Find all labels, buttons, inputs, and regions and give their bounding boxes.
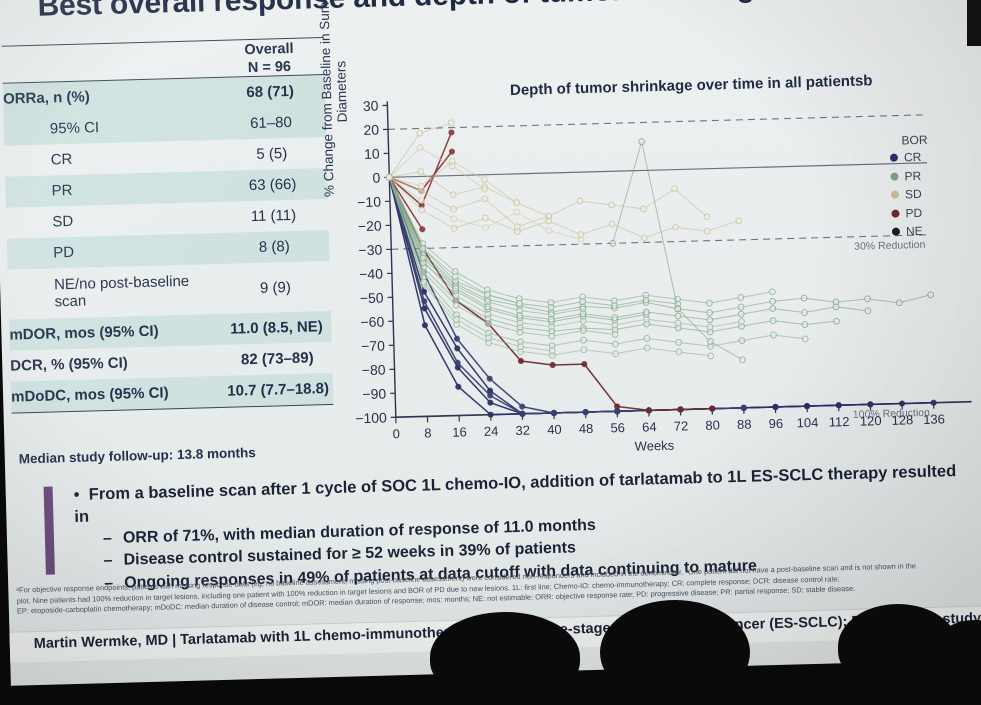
legend-dot-icon xyxy=(890,154,898,162)
legend-label: CR xyxy=(904,150,922,164)
series-marker xyxy=(580,299,586,305)
row-value-cr: 5 (5) xyxy=(217,137,328,171)
series-marker xyxy=(707,317,713,323)
page-title: Best overall response and depth of tumor… xyxy=(37,0,938,22)
series-marker xyxy=(549,333,555,339)
series-marker xyxy=(419,207,425,213)
x-tick-label: 64 xyxy=(642,419,657,434)
series-marker xyxy=(452,273,458,279)
series-line-cr xyxy=(389,163,933,417)
y-tick-label: −60 xyxy=(360,314,384,331)
bullet-dot: • xyxy=(74,486,89,504)
x-tick-label: 0 xyxy=(392,426,400,441)
series-marker xyxy=(771,332,777,338)
series-marker xyxy=(739,338,745,344)
series-marker xyxy=(678,407,683,412)
series-marker xyxy=(641,235,647,241)
y-tick-label: 0 xyxy=(372,170,380,186)
series-marker xyxy=(896,300,902,306)
legend-item-sd: SD xyxy=(891,187,929,202)
row-value-mdor: 11.0 (8.5, NE) xyxy=(221,311,332,345)
series-marker xyxy=(834,318,840,324)
series-marker xyxy=(449,130,454,135)
series-marker xyxy=(453,302,459,308)
row-label-ne: NE/no post-baseline scan xyxy=(8,264,222,320)
series-marker xyxy=(517,329,523,335)
series-marker xyxy=(454,317,460,323)
legend-item-pr: PR xyxy=(890,168,928,183)
series-marker xyxy=(456,384,461,389)
series-line-sd xyxy=(389,168,739,245)
x-tick-label: 72 xyxy=(674,418,689,433)
series-marker xyxy=(488,412,493,417)
series-marker xyxy=(676,349,682,355)
legend-item-ne: NE xyxy=(892,224,930,239)
series-marker xyxy=(420,245,426,251)
y-tick-label: 10 xyxy=(364,146,380,162)
footnote-marker-a: a xyxy=(36,90,45,107)
series-marker xyxy=(451,206,457,212)
y-tick-label: −30 xyxy=(358,242,382,259)
series-marker xyxy=(455,360,460,365)
series-marker xyxy=(485,304,491,310)
series-marker xyxy=(484,292,490,298)
series-marker xyxy=(485,321,491,327)
series-marker xyxy=(609,221,615,227)
series-marker xyxy=(802,336,808,342)
y-tick-label: −50 xyxy=(360,290,384,307)
y-tick-label: −70 xyxy=(361,338,385,355)
series-marker xyxy=(865,296,871,302)
x-tick-label: 96 xyxy=(768,416,783,431)
series-marker xyxy=(483,225,489,231)
series-marker xyxy=(422,299,427,304)
series-marker xyxy=(548,316,554,322)
series-marker xyxy=(741,405,746,410)
series-line-cr xyxy=(389,168,743,417)
legend-dot-icon xyxy=(891,191,899,199)
y-tick-label: −80 xyxy=(362,361,386,378)
series-marker xyxy=(487,393,492,398)
row-value-sd: 11 (11) xyxy=(218,199,329,233)
legend-dot-icon xyxy=(891,209,899,217)
x-tick-label: 48 xyxy=(579,421,594,436)
median-followup-text: Median study follow-up: 13.8 months xyxy=(19,445,256,466)
series-marker xyxy=(514,209,520,215)
series-marker xyxy=(706,300,712,306)
series-marker xyxy=(455,346,460,351)
dash-marker: – xyxy=(103,550,124,573)
legend-label: PR xyxy=(904,168,921,182)
series-marker xyxy=(549,348,555,354)
row-value-dcr: 82 (73–89) xyxy=(222,342,333,376)
series-marker xyxy=(580,311,586,317)
series-marker xyxy=(546,218,552,224)
series-marker xyxy=(640,206,646,212)
series-marker xyxy=(931,400,936,405)
series-marker xyxy=(738,318,744,324)
series-marker xyxy=(899,401,904,406)
series-marker xyxy=(833,304,839,310)
y-tick-label: 30 xyxy=(363,98,379,114)
series-marker xyxy=(417,130,423,136)
legend-dot-icon xyxy=(890,172,898,180)
series-marker xyxy=(518,344,524,350)
series-marker xyxy=(740,357,746,363)
series-marker xyxy=(609,202,615,208)
audience-silhouette xyxy=(430,612,580,702)
series-marker xyxy=(453,285,459,291)
series-marker xyxy=(708,353,714,359)
series-marker xyxy=(482,186,488,192)
series-marker xyxy=(550,362,555,367)
x-tick-label: 24 xyxy=(484,423,499,438)
series-marker xyxy=(611,303,617,309)
series-marker xyxy=(704,228,710,234)
slide-surface: Best overall response and depth of tumor… xyxy=(0,0,981,686)
series-marker xyxy=(422,323,427,328)
series-marker xyxy=(644,345,650,351)
frame-edge-right xyxy=(967,0,981,46)
series-marker xyxy=(770,298,776,304)
y-tick-label: 20 xyxy=(363,122,379,138)
series-marker xyxy=(482,196,488,202)
series-marker xyxy=(738,311,744,317)
x-tick-label: 128 xyxy=(891,412,913,428)
series-marker xyxy=(451,216,457,222)
series-marker xyxy=(551,410,556,415)
x-tick-label: 80 xyxy=(705,417,720,432)
series-marker xyxy=(704,214,710,220)
series-marker xyxy=(486,335,492,341)
series-marker xyxy=(804,403,809,408)
row-value-pr: 63 (66) xyxy=(217,168,328,202)
best-overall-response-table: Overall N = 96 ORRa, n (%) 68 (71) 95% C… xyxy=(2,37,334,416)
legend-label: NE xyxy=(906,224,923,238)
reference-line xyxy=(388,115,926,130)
series-marker xyxy=(644,335,650,341)
audience-silhouette xyxy=(600,600,750,705)
series-marker xyxy=(546,228,552,234)
series-marker xyxy=(646,408,651,413)
series-line-cr xyxy=(389,164,870,417)
series-marker xyxy=(582,361,587,366)
series-marker xyxy=(612,331,618,337)
series-marker xyxy=(801,295,807,301)
table-row: NE/no post-baseline scan 9 (9) xyxy=(8,261,331,320)
series-marker xyxy=(673,224,679,230)
x-tick-label: 56 xyxy=(610,420,625,435)
series-marker xyxy=(580,328,586,334)
legend-dot-icon xyxy=(892,228,900,236)
series-marker xyxy=(614,404,619,409)
series-marker xyxy=(419,197,425,203)
series-marker xyxy=(514,228,520,234)
series-marker xyxy=(449,158,455,164)
series-marker xyxy=(578,232,584,238)
y-tick-label: −20 xyxy=(358,218,382,235)
legend-title: BOR xyxy=(889,133,927,148)
series-marker xyxy=(613,351,619,357)
x-tick-label: 8 xyxy=(424,425,432,440)
series-marker xyxy=(420,227,425,232)
series-marker xyxy=(449,149,454,154)
x-tick-label: 40 xyxy=(547,422,562,437)
series-marker xyxy=(577,198,583,204)
series-marker xyxy=(516,300,522,306)
row-value-ne: 9 (9) xyxy=(220,261,331,314)
x-tick-label: 16 xyxy=(452,424,467,439)
series-marker xyxy=(612,341,618,347)
y-tick-label: −10 xyxy=(357,194,381,211)
series-marker xyxy=(548,304,554,310)
series-marker xyxy=(386,174,392,180)
chart-legend: BOR CRPRSDPDNE xyxy=(889,133,930,243)
series-marker xyxy=(518,358,523,363)
series-marker xyxy=(676,339,682,345)
x-tick-label: 32 xyxy=(515,423,530,438)
legend-label: SD xyxy=(905,187,922,201)
series-marker xyxy=(421,279,427,285)
series-marker xyxy=(643,309,649,315)
series-marker xyxy=(451,225,457,231)
legend-item-cr: CR xyxy=(890,150,928,165)
row-value-orr: 68 (71) xyxy=(215,75,326,109)
series-marker xyxy=(868,402,873,407)
series-marker xyxy=(769,289,775,295)
series-marker xyxy=(802,322,808,328)
series-marker xyxy=(581,337,587,343)
x-tick-label: 112 xyxy=(829,414,850,430)
y-tick-label: −90 xyxy=(362,385,386,402)
series-marker xyxy=(482,215,488,221)
tumor-shrinkage-chart: Depth of tumor shrinkage over time in al… xyxy=(325,71,981,469)
series-marker xyxy=(836,403,841,408)
series-marker xyxy=(420,255,426,261)
series-marker xyxy=(418,183,424,189)
series-marker xyxy=(487,376,492,381)
series-marker xyxy=(707,324,713,330)
series-marker xyxy=(672,186,678,192)
series-marker xyxy=(583,409,588,414)
y-tick-label: −100 xyxy=(355,409,387,426)
series-marker xyxy=(770,318,776,324)
series-marker xyxy=(643,297,649,303)
accent-bar xyxy=(44,487,55,575)
legend-items: CRPRSDPDNE xyxy=(890,150,930,239)
series-marker xyxy=(738,294,744,300)
series-marker xyxy=(450,192,456,198)
series-marker xyxy=(418,169,424,175)
series-marker xyxy=(710,406,715,411)
y-tick-label: −40 xyxy=(359,266,383,283)
series-marker xyxy=(773,404,778,409)
series-marker xyxy=(448,120,454,126)
series-marker xyxy=(517,312,523,318)
series-marker xyxy=(488,400,493,405)
series-marker xyxy=(675,320,681,326)
x-tick-label: 104 xyxy=(796,415,818,431)
series-marker xyxy=(802,310,808,316)
series-marker xyxy=(738,304,744,310)
series-marker xyxy=(454,336,459,341)
row-value-pd: 8 (8) xyxy=(219,230,330,264)
series-marker xyxy=(581,347,587,353)
series-marker xyxy=(736,218,742,224)
series-marker xyxy=(514,200,520,206)
x-tick-label: 120 xyxy=(860,413,882,429)
series-marker xyxy=(520,411,525,416)
legend-item-pd: PD xyxy=(891,205,929,220)
x-tick-label: 136 xyxy=(923,411,945,427)
series-marker xyxy=(865,308,871,314)
series-marker xyxy=(928,292,934,298)
series-marker xyxy=(481,177,487,183)
series-marker xyxy=(639,139,645,145)
series-marker xyxy=(675,313,681,319)
reference-line xyxy=(389,163,927,178)
series-marker xyxy=(707,310,713,316)
series-marker xyxy=(520,404,525,409)
series-marker xyxy=(675,306,681,312)
legend-label: PD xyxy=(905,205,922,219)
series-marker xyxy=(612,315,618,321)
series-marker xyxy=(610,240,616,246)
x-tick-label: 88 xyxy=(737,417,752,432)
chart-svg: 30% Reduction100% Reduction3020100−10−20… xyxy=(325,71,981,469)
row-value-mdodc: 10.7 (7.7–18.8) xyxy=(223,373,334,407)
dash-marker: – xyxy=(103,528,124,551)
series-marker xyxy=(770,306,776,312)
series-marker xyxy=(707,339,713,345)
reference-line xyxy=(391,235,929,250)
series-marker xyxy=(417,145,423,151)
row-value-ci: 61–80 xyxy=(216,106,327,140)
